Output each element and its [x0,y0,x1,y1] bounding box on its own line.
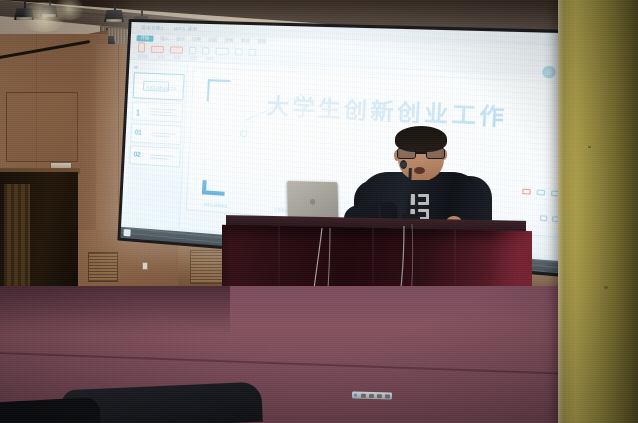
light-lens [106,19,122,22]
slide-footer-left: 大学生创新创业 [203,202,228,209]
column-highlight-edge [558,0,564,423]
thumbnail-3-number: 01 [135,129,142,136]
ribbon-group-drawing: 绘图 [190,56,198,61]
light-lens [16,17,32,20]
presenter-laptop[interactable] [287,181,338,221]
light-arm [49,0,51,7]
app-name: WPS 演示 [174,26,198,33]
track-light-1 [14,2,34,20]
ribbon-tab-insert[interactable]: 插入 [160,36,169,42]
light-arm [141,10,143,17]
microphone-capsule [400,160,407,169]
stage-left-doorway[interactable] [0,172,78,290]
notes-icon[interactable] [522,189,531,195]
comment-icon[interactable] [536,190,545,196]
ribbon-tab-slideshow[interactable]: 放映 [224,38,233,44]
laptop-logo-icon [310,199,316,205]
slide-thumbnail-2[interactable]: 1 [131,101,183,123]
slide-title[interactable]: 大学生创新创业工作 [266,90,509,133]
new-slide-icon[interactable] [151,46,164,53]
paragraph-icon[interactable] [202,47,210,54]
slide-leader-dot [240,130,248,138]
ribbon-group-font: 字体 [157,55,164,60]
slide-corner-bracket-bottom [202,180,225,196]
ribbon-group-paragraph: 段落 [173,56,180,61]
floor-shadow [0,286,230,336]
track-light-2 [40,0,58,18]
thumbnail-4-number: 02 [133,151,140,158]
thumbnail-pane-header: ▮▮ [134,65,185,71]
lecture-hall-scene: 演示文稿1 WPS 演示 — □ × 开始 插入 设计 切换 动画 放映 审阅 … [0,0,638,423]
light-head [14,8,34,20]
university-crest-icon [542,66,556,79]
slide-thumbnail-3[interactable]: 01 [130,123,182,145]
hall-column [558,0,638,423]
eyeglass-lens-right [426,148,445,159]
thumbnail-pane-tab: ▮▮ [134,65,138,69]
shape-icon[interactable] [170,46,183,54]
speaker-mouth [414,167,425,174]
power-strip-led-icon [354,394,357,397]
light-head [104,10,124,22]
ribbon-tab-design[interactable]: 设计 [176,36,185,42]
light-arm [114,4,116,11]
floor-power-strip[interactable] [352,391,392,399]
font-icon[interactable] [189,47,196,54]
slide-footer-right: 工作会议 [274,206,289,212]
eyeglasses-icon [397,148,445,159]
ribbon-tab-animations[interactable]: 动画 [208,37,217,43]
ribbon-group-editing: 编辑 [206,57,214,62]
slide-thumbnail-4[interactable]: 02 [129,145,181,167]
slide-corner-bracket-top [207,79,231,102]
light-lens [42,14,56,17]
arrange-icon[interactable] [235,48,243,55]
ribbon-tab-transitions[interactable]: 切换 [192,37,201,43]
foreground-chair-2[interactable] [0,397,101,423]
align-icon[interactable] [215,48,229,56]
find-icon[interactable] [248,49,256,56]
light-arm [24,2,26,9]
slide-thumbnail-1[interactable]: 大学生创新创业工作 [133,72,185,100]
eyeglass-bridge [416,152,426,154]
door-panel [4,184,30,288]
ribbon-tab-home[interactable]: 开始 [136,35,153,42]
ribbon-tab-view[interactable]: 视图 [257,39,267,45]
ribbon-group-clipboard: 剪贴板 [138,54,149,59]
wall-recess-panel [6,92,78,162]
track-light-3 [104,4,124,24]
thumbnail-2-number: 1 [136,108,140,117]
paste-icon[interactable] [138,42,145,52]
wall-grille-left [88,252,118,282]
ribbon-tab-review[interactable]: 审阅 [240,38,249,44]
wall-light-switch[interactable] [142,262,148,270]
light-head [40,6,58,17]
app-document-name: 演示文稿1 [141,25,164,32]
slide-thumbnail-pane[interactable]: ▮▮ 大学生创新创业工作 1 01 [124,62,188,226]
view-normal-icon[interactable] [540,215,548,221]
start-icon[interactable] [123,229,130,237]
eyeglass-lens-left [397,148,416,159]
